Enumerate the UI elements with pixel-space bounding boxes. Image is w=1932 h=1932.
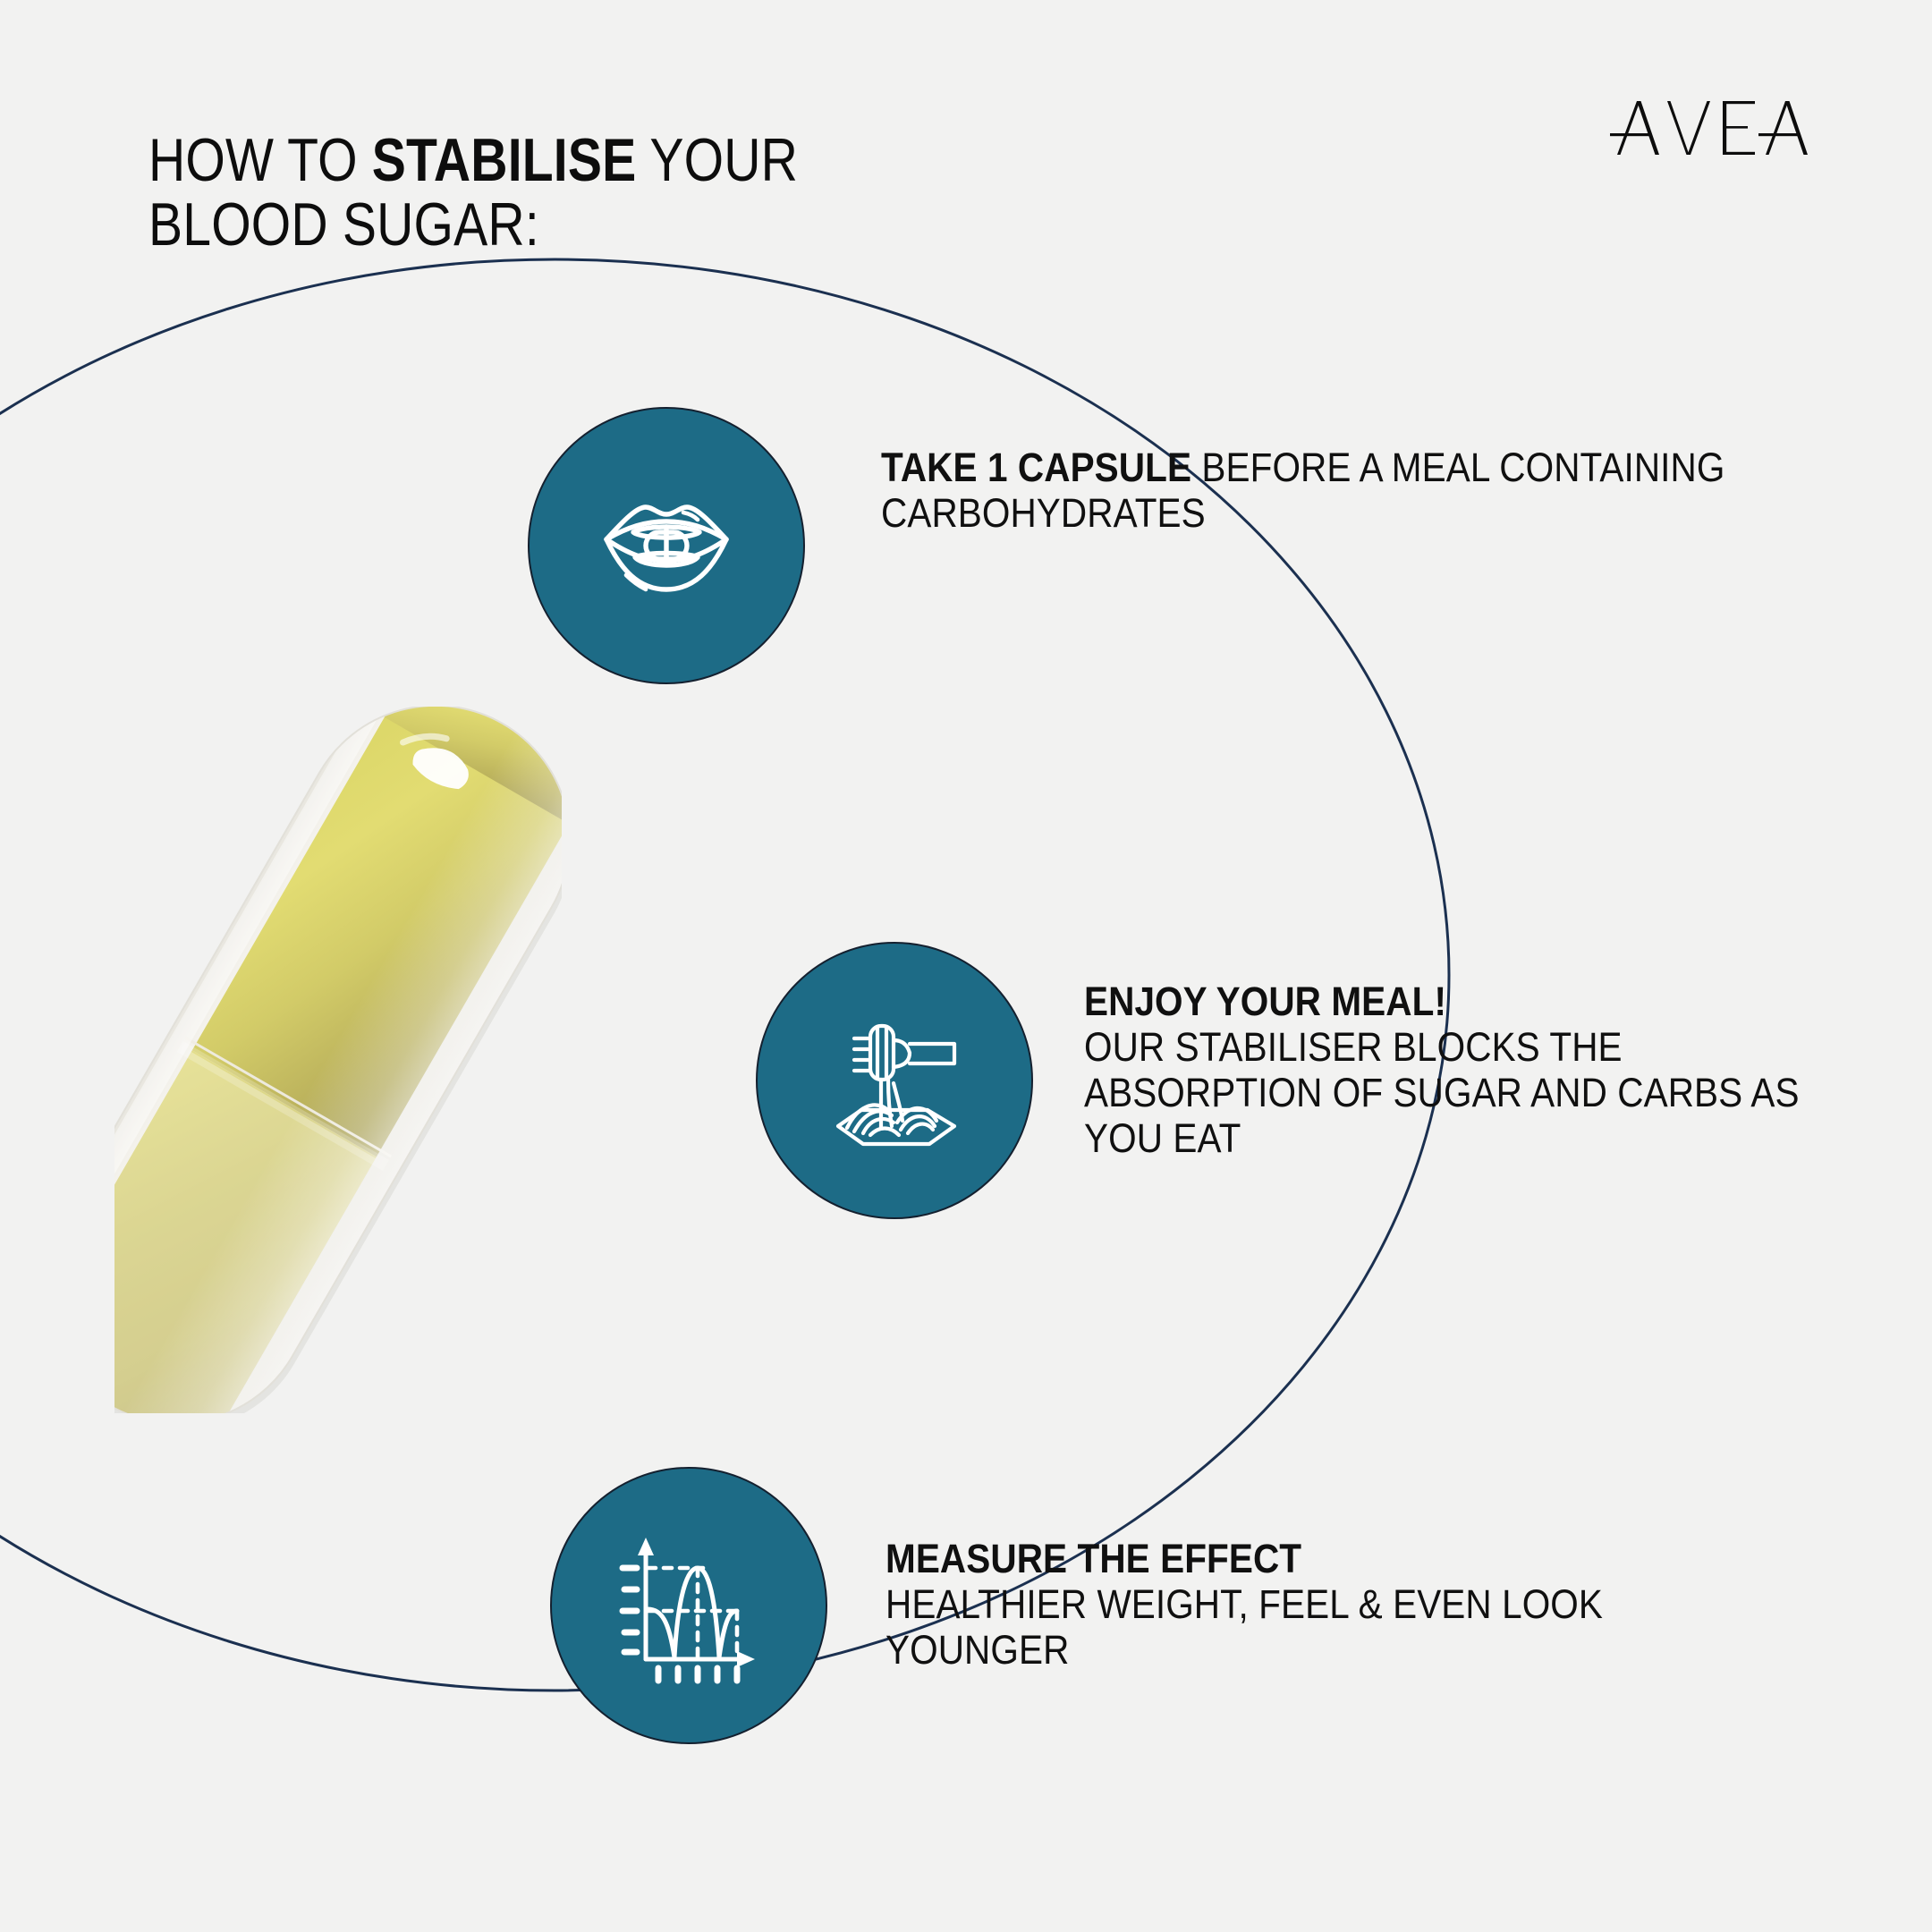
step-3-heading: MEASURE THE EFFECT [885,1537,1610,1582]
step-1-icon-circle[interactable] [528,407,805,684]
title-suffix: YOUR [636,126,798,194]
logo-letter-v [1667,101,1710,155]
step-3-body: HEALTHIER WEIGHT, FEEL & EVEN LOOK YOUNG… [885,1582,1610,1674]
blood-sugar-graph-icon [610,1527,767,1684]
page-title: HOW TO STABILISE YOURBLOOD SUGAR: [148,128,1125,258]
step-1-heading: TAKE 1 CAPSULE [881,445,1191,490]
capsule-product-image [114,707,562,1413]
title-line-2: BLOOD SUGAR: [148,191,539,258]
avea-logo [1608,97,1814,159]
mouth-with-capsule-icon [590,470,742,622]
step-2-body: OUR STABILISER BLOCKS THE ABSORPTION OF … [1084,1025,1809,1162]
step-2-text: ENJOY YOUR MEAL! OUR STABILISER BLOCKS T… [1084,979,1809,1161]
logo-letter-a-2 [1758,101,1808,155]
title-emphasis: STABILISE [372,126,637,194]
title-prefix: HOW TO [148,126,372,194]
step-2-icon-circle[interactable] [756,942,1033,1219]
infographic-canvas: HOW TO STABILISE YOURBLOOD SUGAR: [0,0,1932,1932]
step-3-text: MEASURE THE EFFECT HEALTHIER WEIGHT, FEE… [885,1537,1610,1674]
step-2-heading: ENJOY YOUR MEAL! [1084,979,1809,1025]
logo-letter-a-1 [1610,101,1659,155]
step-1-text: TAKE 1 CAPSULE BEFORE A MEAL CONTAINING … [881,445,1750,537]
step-3-icon-circle[interactable] [550,1467,827,1744]
logo-letter-e [1723,101,1755,155]
fork-with-spaghetti-icon [815,1001,974,1160]
